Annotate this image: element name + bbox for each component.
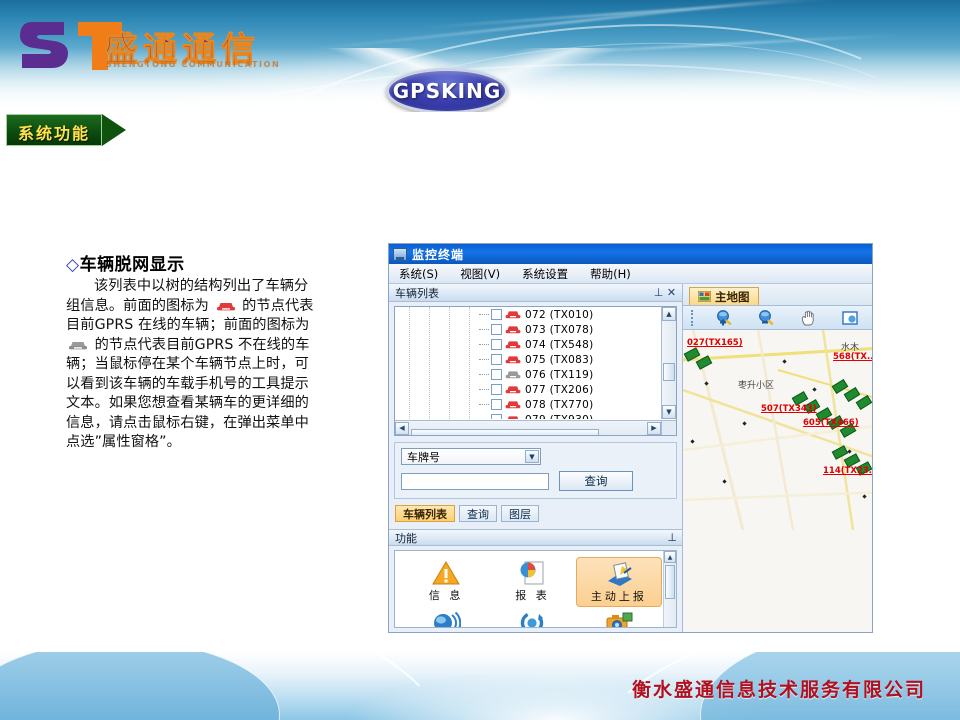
tree-connector [479,314,489,315]
vehicle-label: 074 (TX548) [525,339,594,351]
scroll-up-icon[interactable]: ▲ [662,307,676,321]
tab-vehicle-list[interactable]: 车辆列表 [395,505,455,522]
upload-report-icon [604,561,634,587]
scrollbar-corner [661,420,676,435]
vehicle-search-form: 车牌号 ▼ 查询 [394,442,677,499]
tree-guide-line [429,307,430,419]
vehicle-tree-item[interactable]: 073 (TX078) [395,322,660,337]
tree-connector [479,404,489,405]
warning-triangle-icon [431,560,461,586]
menu-item-settings[interactable]: 系统设置 [522,266,568,282]
vehicle-tree-item[interactable]: 075 (TX083) [395,352,660,367]
map-place-label: 枣升小区 [738,378,774,391]
function-button-label: 报 表 [515,587,550,603]
car-online-icon [505,339,521,350]
map-toolbar [683,306,872,330]
close-icon[interactable]: ✕ [665,286,678,299]
select-rect-icon[interactable] [840,309,862,327]
car-online-icon [505,384,521,395]
map-tab-bar: 主地图 [683,284,872,306]
company-name: 衡水盛通信息技术服务有限公司 [632,675,926,702]
tab-main-map-label: 主地图 [715,289,750,305]
pin-icon[interactable]: ⊥ [667,531,677,544]
vehicle-label: 072 (TX010) [525,309,594,321]
tree-guide-line [469,307,470,419]
paragraph-part-3: 的节点代表目前GPRS 不在线的车辆；当鼠标停在某个车辆节点上时，可以看到该车辆… [66,337,310,451]
tab-main-map[interactable]: 主地图 [689,287,759,305]
vehicle-tree-horizontal-scrollbar[interactable]: ◀ ▶ [395,420,661,435]
function-button-label: 主动上报 [591,588,647,604]
window-body: 车辆列表 ⊥ ✕ 072 (TX010)073 (TX078)074 (TX54… [389,284,872,633]
vehicle-label: 076 (TX119) [525,369,594,381]
search-field-row: 车牌号 ▼ [401,448,670,465]
window-title-text: 监控终端 [412,246,464,263]
vehicle-tree-item[interactable]: 072 (TX010) [395,307,660,322]
car-online-icon [505,309,521,320]
tree-guide-line [449,307,450,419]
page-footer: 衡水盛通信息技术服务有限公司 [0,652,960,720]
vehicle-checkbox[interactable] [491,339,502,350]
vehicle-checkbox[interactable] [491,309,502,320]
vehicle-label: 075 (TX083) [525,354,594,366]
vehicle-tree-vertical-scrollbar[interactable]: ▲ ▼ [661,307,676,419]
car-offline-icon [68,339,88,351]
vehicle-tree-item[interactable]: 077 (TX206) [395,382,660,397]
car-online-icon [505,399,521,410]
vehicle-label: 079 (TX930) [525,414,594,420]
scroll-left-icon[interactable]: ◀ [395,422,409,435]
function-button[interactable]: 拍 照 [576,607,662,628]
vehicle-label: 078 (TX770) [525,399,594,411]
map-vehicle-label: 027(TX165) [687,338,743,348]
logo-subtitle: SHENGTONG COMMUNICATION [106,60,280,69]
window-title-bar: 监控终端 [389,244,872,264]
search-input[interactable] [401,473,549,490]
vehicle-checkbox[interactable] [491,369,502,380]
function-button[interactable]: 轨迹回放 [489,607,575,628]
scroll-down-icon[interactable]: ▼ [662,405,676,419]
chevron-down-icon[interactable]: ▼ [525,450,539,463]
track-replay-icon [517,610,547,628]
function-grid: 信 息报 表主动上报调 度轨迹回放拍 照 [395,551,676,628]
car-online-icon [505,354,521,365]
vehicle-list-panel-header: 车辆列表 ⊥ ✕ [389,284,682,302]
map-vehicle-label: 507(TX343) [761,404,817,414]
vehicle-checkbox[interactable] [491,324,502,335]
vehicle-checkbox[interactable] [491,384,502,395]
search-field-value: 车牌号 [407,449,440,465]
map-pane: 主地图 [683,284,872,633]
search-button[interactable]: 查询 [559,471,633,491]
tab-layers[interactable]: 图层 [501,505,539,522]
tree-connector [479,374,489,375]
function-button[interactable]: 报 表 [489,557,575,607]
function-panel-scrollbar[interactable]: ▲ [663,551,676,627]
toolbar-grip[interactable] [691,310,694,326]
application-icon [393,248,407,261]
pan-hand-icon[interactable] [798,309,820,327]
gpsking-badge: GPSKING [386,68,508,112]
tab-query[interactable]: 查询 [459,505,497,522]
diamond-bullet-icon: ◇ [66,255,80,275]
menu-item-view[interactable]: 视图(V) [460,266,500,282]
page-title: ◇车辆脱网显示 [66,250,318,275]
scrollbar-thumb[interactable] [663,363,675,381]
map-vehicle-label: 114(TX23...) [823,466,872,476]
vehicle-checkbox[interactable] [491,399,502,410]
vehicle-tree-item[interactable]: 079 (TX930) [395,412,660,419]
pin-icon[interactable]: ⊥ [652,286,665,299]
report-chart-icon [517,560,547,586]
menu-item-system[interactable]: 系统(S) [399,266,438,282]
section-tab-label: 系统功能 [18,120,90,144]
function-button[interactable]: 信 息 [403,557,489,607]
vehicle-tree-item[interactable]: 076 (TX119) [395,367,660,382]
map-vehicle-label: 605(TX466) [803,418,859,428]
car-online-icon [505,414,521,419]
zoom-in-icon[interactable] [714,309,736,327]
vehicle-checkbox[interactable] [491,354,502,365]
scroll-right-icon[interactable]: ▶ [647,422,661,435]
page-header: 盛通通信 SHENGTONG COMMUNICATION GPSKING [0,0,960,112]
tree-connector [479,329,489,330]
vehicle-tree-rows: 072 (TX010)073 (TX078)074 (TX548)075 (TX… [395,307,660,419]
gpsking-label: GPSKING [393,79,502,103]
vehicle-tree[interactable]: 072 (TX010)073 (TX078)074 (TX548)075 (TX… [394,306,677,436]
section-tab-system-function[interactable]: 系统功能 [6,114,128,146]
camera-icon [604,610,634,628]
car-offline-icon [505,369,521,380]
vehicle-label: 073 (TX078) [525,324,594,336]
car-online-icon [505,324,521,335]
section-tab-arrow [102,114,126,146]
search-input-row: 查询 [401,471,670,491]
content-text-block: ◇车辆脱网显示 该列表中以树的结构列出了车辆分组信息。前面的图标为 的节点代表目… [66,250,318,453]
vehicle-list-panel-title: 车辆列表 [395,285,439,301]
function-button[interactable]: 主动上报 [576,557,662,607]
menu-bar: 系统(S) 视图(V) 系统设置 帮助(H) [389,264,872,284]
search-field-select[interactable]: 车牌号 ▼ [401,448,541,465]
map-vehicle-label: 568(TX...) [833,352,872,362]
page-title-text: 车辆脱网显示 [80,255,185,275]
function-button[interactable]: 调 度 [403,607,489,628]
left-dock-pane: 车辆列表 ⊥ ✕ 072 (TX010)073 (TX078)074 (TX54… [389,284,683,633]
tree-connector [479,344,489,345]
monitoring-application-window: 监控终端 系统(S) 视图(V) 系统设置 帮助(H) 车辆列表 ⊥ ✕ 072 [388,243,873,633]
dispatch-signal-icon [431,610,461,628]
content-paragraph: 该列表中以树的结构列出了车辆分组信息。前面的图标为 的节点代表目前GPRS 在线… [66,277,318,453]
scroll-up-icon[interactable]: ▲ [664,551,676,563]
function-button-label: 信 息 [429,587,464,603]
vehicle-tree-scroll-area: 072 (TX010)073 (TX078)074 (TX548)075 (TX… [395,307,660,419]
map-canvas[interactable]: 枣升小区水木027(TX165)568(TX...)507(TX343)605(… [683,330,872,633]
vehicle-checkbox[interactable] [491,414,502,419]
left-pane-tabs: 车辆列表 查询 图层 [395,505,682,522]
vehicle-tree-item[interactable]: 074 (TX548) [395,337,660,352]
tree-connector [479,359,489,360]
function-panel: 信 息报 表主动上报调 度轨迹回放拍 照 ▲ [394,550,677,628]
function-panel-header: 功能 ⊥ [389,529,682,546]
vehicle-tree-item[interactable]: 078 (TX770) [395,397,660,412]
scrollbar-thumb[interactable] [665,565,675,599]
car-online-icon [216,300,236,312]
tree-guide-line [409,307,410,419]
vehicle-label: 077 (TX206) [525,384,594,396]
map-icon [698,291,711,302]
tree-connector [479,389,489,390]
hscrollbar-thumb[interactable] [411,429,599,436]
menu-item-help[interactable]: 帮助(H) [590,266,631,282]
function-panel-title: 功能 [395,530,417,546]
zoom-out-icon[interactable] [756,309,778,327]
